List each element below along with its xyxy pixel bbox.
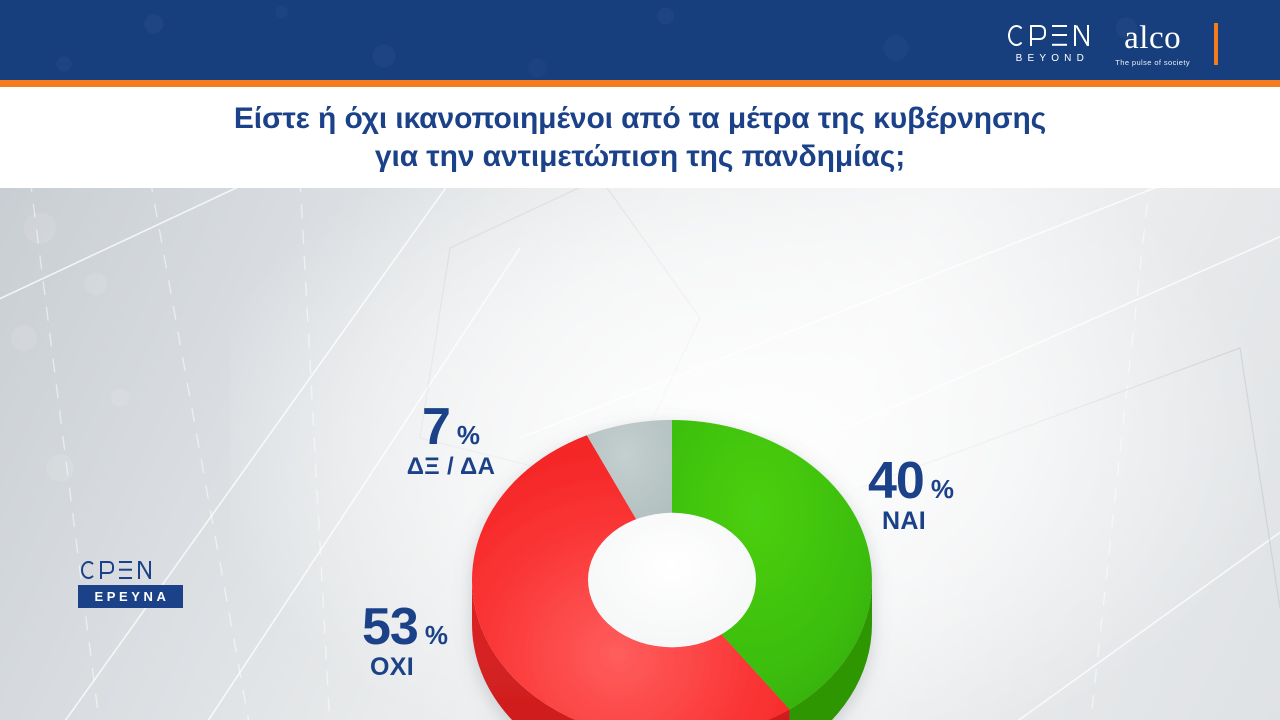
callout-dx-da-value: 7 — [422, 402, 450, 452]
callout-dx-da-percent: % — [457, 420, 480, 451]
watermark-letter-e-icon — [119, 561, 134, 579]
callout-dx-da-label: ΔΞ / ΔΑ — [397, 453, 505, 481]
title-band: Είστε ή όχι ικανοποιημένοι από τα μέτρα … — [0, 87, 1280, 188]
callout-oxi-percent: % — [425, 620, 448, 651]
page-title-line-2: για την αντιμετώπιση της πανδημίας; — [375, 138, 905, 176]
callout-oxi-value: 53 — [362, 602, 418, 652]
open-wordmark-watermark-icon — [81, 560, 188, 579]
callout-nai: 40 % ΝΑΙ — [868, 456, 954, 536]
open-letter-e-icon — [1052, 25, 1069, 46]
open-letter-n-icon — [1074, 25, 1091, 46]
chart-stage: ΕΡΕΥΝΑ — [0, 188, 1280, 720]
open-wordmark-icon — [1008, 24, 1091, 46]
callout-nai-label: ΝΑΙ — [882, 507, 954, 536]
callout-nai-percent: % — [931, 474, 954, 505]
open-beyond-logo: BEYOND — [1008, 24, 1091, 64]
open-beyond-subtitle: BEYOND — [1016, 53, 1089, 64]
ereyna-badge: ΕΡΕΥΝΑ — [78, 585, 183, 608]
callout-oxi-label: ΟΧΙ — [370, 653, 448, 682]
callout-dx-da: 7 % ΔΞ / ΔΑ — [397, 402, 505, 481]
open-ereyna-watermark: ΕΡΕΥΝΑ — [78, 560, 188, 608]
page-title-line-1: Είστε ή όχι ικανοποιημένοι από τα μέτρα … — [234, 100, 1046, 138]
brand-divider — [1214, 23, 1218, 65]
brand-block: BEYOND alco The pulse of society — [1008, 22, 1218, 66]
callout-nai-value: 40 — [868, 456, 924, 506]
open-letter-o-icon — [1008, 25, 1025, 46]
callout-oxi: 53 % ΟΧΙ — [362, 602, 448, 682]
donut-chart — [470, 400, 890, 720]
header-accent-rule — [0, 80, 1280, 87]
watermark-letter-p-icon — [100, 561, 115, 579]
header-bar: BEYOND alco The pulse of society — [0, 0, 1280, 80]
donut-chart-svg — [470, 400, 890, 720]
alco-tagline: The pulse of society — [1115, 58, 1190, 67]
open-letter-p-icon — [1030, 25, 1047, 46]
watermark-letter-n-icon — [138, 561, 153, 579]
alco-wordmark: alco — [1124, 22, 1181, 54]
watermark-letter-o-icon — [81, 561, 96, 579]
alco-logo: alco The pulse of society — [1115, 22, 1190, 67]
